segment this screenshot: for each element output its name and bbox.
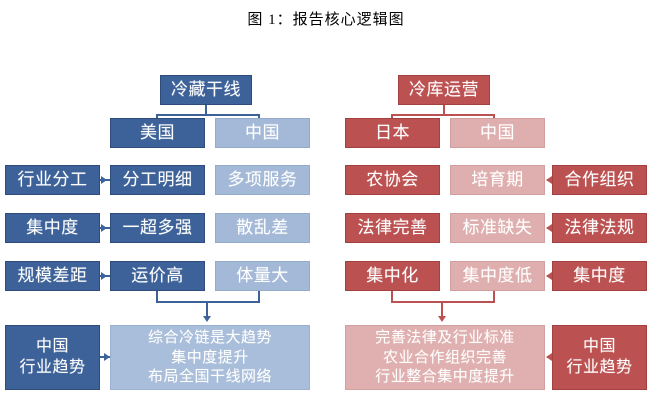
left-cn-cell-0[interactable]: 多项服务 [215, 165, 310, 195]
right-trend-line-1: 中国 [566, 337, 632, 357]
left-trend-line-1: 中国 [19, 337, 85, 357]
left-cn-cell-1[interactable]: 散乱差 [215, 213, 310, 243]
right-jp-cell-1[interactable]: 法律完善 [345, 213, 440, 243]
figure-canvas: 图 1：报告核心逻辑图 冷藏干线 美国 中国 行业分工 分工明细 多项服务 集中… [0, 0, 652, 407]
left-us-cell-2[interactable]: 运价高 [110, 261, 205, 291]
right-summary-line-1: 农业合作组织完善 [375, 348, 515, 368]
right-root-node[interactable]: 冷库运营 [398, 75, 490, 105]
left-summary-box[interactable]: 综合冷链是大趋势 集中度提升 布局全国干线网络 [110, 325, 310, 390]
left-arrow-line-2 [100, 275, 110, 277]
left-us-cell-1[interactable]: 一超多强 [110, 213, 205, 243]
left-arrow-line-1 [100, 227, 110, 229]
left-trend-box[interactable]: 中国 行业趋势 [5, 325, 100, 390]
right-topic-2[interactable]: 集中度 [552, 261, 647, 291]
right-country-cn[interactable]: 中国 [450, 118, 545, 148]
left-trend-line-2: 行业趋势 [19, 358, 85, 378]
left-arrow-line-0 [100, 179, 110, 181]
right-summary-line-2: 行业整合集中度提升 [375, 367, 515, 387]
left-us-cell-0[interactable]: 分工明细 [110, 165, 205, 195]
left-summary-line-1: 集中度提升 [148, 348, 272, 368]
right-root-connector-bar [391, 114, 495, 116]
left-merge-arrow-icon [203, 316, 211, 322]
right-summary-line-0: 完善法律及行业标准 [375, 328, 515, 348]
right-cn-cell-1[interactable]: 标准缺失 [450, 213, 545, 243]
right-jp-cell-2[interactable]: 集中化 [345, 261, 440, 291]
left-topic-2[interactable]: 规模差距 [5, 261, 100, 291]
right-jp-cell-0[interactable]: 农协会 [345, 165, 440, 195]
left-merge-bar [156, 301, 260, 303]
left-country-cn[interactable]: 中国 [215, 118, 310, 148]
left-cn-cell-2[interactable]: 体量大 [215, 261, 310, 291]
right-topic-0[interactable]: 合作组织 [552, 165, 647, 195]
right-summary-box[interactable]: 完善法律及行业标准 农业合作组织完善 行业整合集中度提升 [345, 325, 545, 390]
left-country-us[interactable]: 美国 [110, 118, 205, 148]
left-root-connector-bar [156, 114, 260, 116]
right-merge-down-stem [441, 301, 443, 317]
right-cn-cell-0[interactable]: 培育期 [450, 165, 545, 195]
left-topic-1[interactable]: 集中度 [5, 213, 100, 243]
right-country-jp[interactable]: 日本 [345, 118, 440, 148]
left-trend-arrow-line [100, 356, 110, 358]
right-trend-box[interactable]: 中国 行业趋势 [552, 325, 647, 390]
left-topic-0[interactable]: 行业分工 [5, 165, 100, 195]
right-merge-arrow-icon [438, 316, 446, 322]
left-summary-line-0: 综合冷链是大趋势 [148, 328, 272, 348]
right-merge-bar [391, 301, 495, 303]
figure-title: 图 1：报告核心逻辑图 [0, 8, 652, 29]
left-summary-line-2: 布局全国干线网络 [148, 367, 272, 387]
right-trend-line-2: 行业趋势 [566, 358, 632, 378]
right-topic-1[interactable]: 法律法规 [552, 213, 647, 243]
right-cn-cell-2[interactable]: 集中度低 [450, 261, 545, 291]
left-merge-down-stem [206, 301, 208, 317]
left-root-node[interactable]: 冷藏干线 [160, 75, 252, 105]
